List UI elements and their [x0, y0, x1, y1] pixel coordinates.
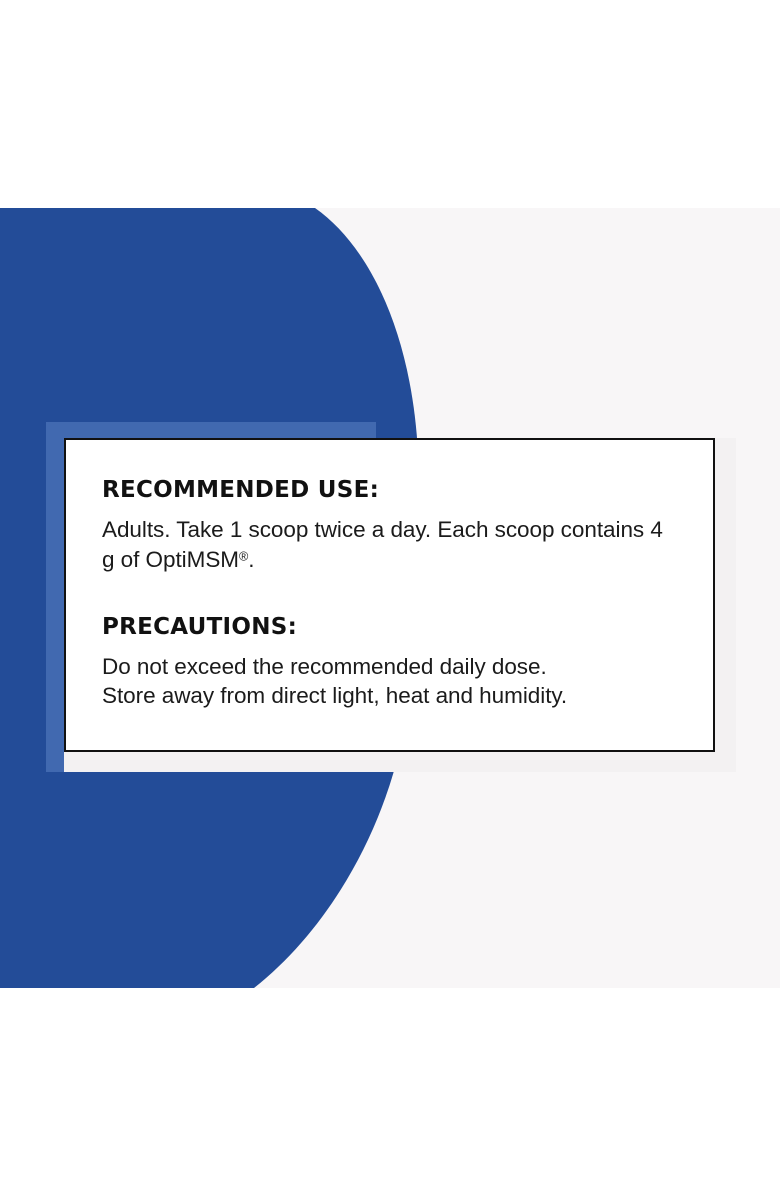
supplement-label-canvas: RECOMMENDED USE: Adults. Take 1 scoop tw… — [0, 0, 780, 1196]
recommended-use-line-2-period: . — [248, 547, 254, 572]
recommended-use-line-1: Adults. Take 1 scoop twice a day. Each s… — [102, 517, 554, 542]
precautions-line-1: Do not exceed the recommended daily dose… — [102, 654, 547, 679]
directions-card: RECOMMENDED USE: Adults. Take 1 scoop tw… — [64, 438, 715, 752]
precautions-line-2: Store away from direct light, heat and h… — [102, 683, 567, 708]
recommended-use-section: RECOMMENDED USE: Adults. Take 1 scoop tw… — [102, 478, 679, 575]
precautions-section: PRECAUTIONS: Do not exceed the recommend… — [102, 615, 679, 712]
precautions-heading: PRECAUTIONS: — [102, 615, 679, 640]
card-content: RECOMMENDED USE: Adults. Take 1 scoop tw… — [66, 440, 713, 711]
registered-trademark-icon: ® — [239, 549, 248, 563]
recommended-use-body: Adults. Take 1 scoop twice a day. Each s… — [102, 515, 679, 575]
precautions-body: Do not exceed the recommended daily dose… — [102, 652, 679, 712]
recommended-use-heading: RECOMMENDED USE: — [102, 478, 679, 503]
